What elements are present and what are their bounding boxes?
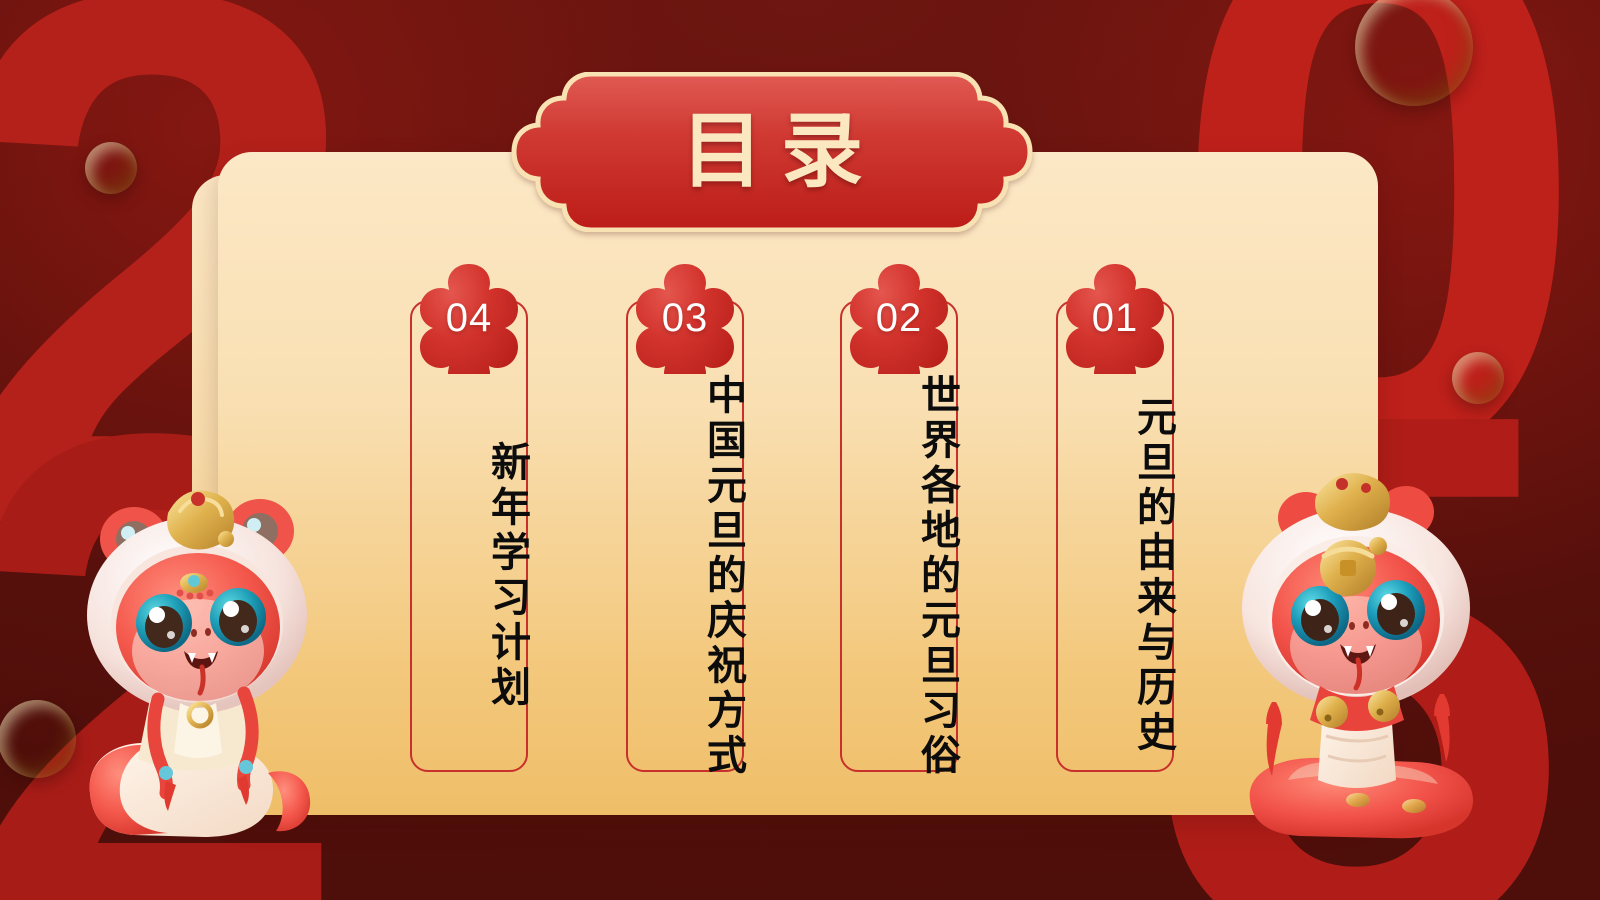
contents-item-04[interactable]: 04 新年学习计划 [410,262,528,772]
contents-item-02[interactable]: 02 世界各地的元旦习俗 [840,262,958,772]
contents-badge-number: 02 [840,262,958,374]
contents-list: 04 新年学习计划 03 中国元旦的庆祝方式 [218,152,1378,815]
gold-sphere-icon [1452,352,1504,404]
contents-badge-03[interactable]: 03 [626,262,744,374]
slide-root: 2 2 0 5 04 新年学习计划 [0,0,1600,900]
contents-item-label: 中国元旦的庆祝方式 [626,380,744,772]
title-banner: 目录 [486,72,1058,232]
contents-item-label: 新年学习计划 [410,380,528,772]
contents-item-01[interactable]: 01 元旦的由来与历史 [1056,262,1174,772]
contents-badge-04[interactable]: 04 [410,262,528,374]
contents-badge-number: 03 [626,262,744,374]
contents-item-label: 元旦的由来与历史 [1056,380,1174,772]
contents-badge-number: 01 [1056,262,1174,374]
contents-item-label: 世界各地的元旦习俗 [840,380,958,772]
snake-mascot-left [72,455,322,845]
snake-mascot-right [1228,450,1484,845]
contents-item-03[interactable]: 03 中国元旦的庆祝方式 [626,262,744,772]
gold-sphere-icon [85,142,137,194]
page-title: 目录 [486,72,1058,232]
snake-mascot-icon [1228,450,1484,845]
contents-badge-02[interactable]: 02 [840,262,958,374]
contents-badge-number: 04 [410,262,528,374]
contents-badge-01[interactable]: 01 [1056,262,1174,374]
gold-sphere-icon [0,700,76,778]
snake-mascot-icon [72,455,322,845]
